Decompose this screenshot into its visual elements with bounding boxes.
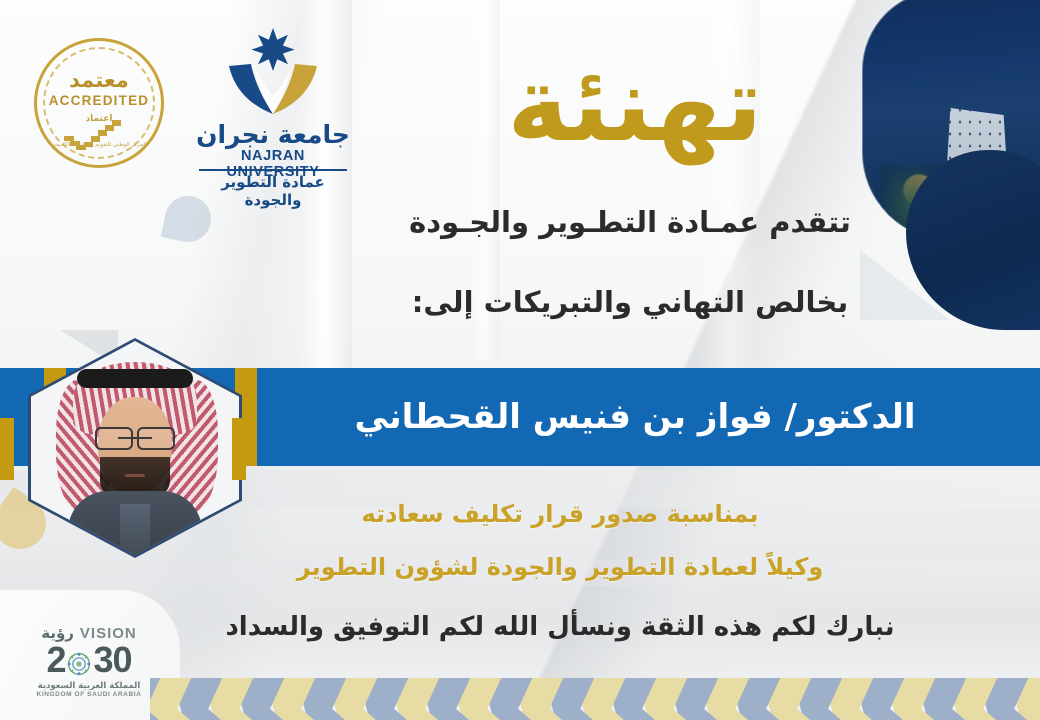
chevron-cell	[761, 678, 792, 720]
chevron-cell	[606, 678, 637, 720]
occasion-line-1: بمناسبة صدور قرار تكليف سعادته	[180, 500, 940, 528]
chevron-cell	[885, 678, 916, 720]
portrait-gold-bar-right	[232, 418, 246, 480]
portrait-gold-bar-left	[0, 418, 14, 480]
seal-english-label: ACCREDITED	[34, 93, 164, 108]
najran-university-logo: جامعة نجران NAJRAN UNIVERSITY عمادة التط…	[193, 28, 353, 168]
vision-2030-logo: VISION رؤية 2	[24, 624, 154, 698]
chevron-cell	[358, 678, 389, 720]
chevron-cell	[637, 678, 668, 720]
vision-kingdom-arabic: المملكة العربية السعودية	[24, 681, 154, 691]
vision-year-right: 30	[93, 642, 131, 678]
chevron-cell	[172, 678, 203, 720]
chevron-cell	[482, 678, 513, 720]
vision-kingdom-english: KINGDOM OF SAUDI ARABIA	[24, 691, 154, 698]
chevron-cell	[513, 678, 544, 720]
accreditation-seal: معتمد ACCREDITED اعتماد المركز الوطني لل…	[34, 38, 164, 168]
occasion-line-2: وكيلاً لعمادة التطوير والجودة لشؤون التط…	[180, 553, 940, 581]
chevron-cell	[947, 678, 978, 720]
chevron-cell	[389, 678, 420, 720]
chevron-cell	[916, 678, 947, 720]
headline-text: تهنئة	[505, 34, 765, 174]
book-emblem-icon	[225, 62, 321, 118]
saudi-emblem-icon	[66, 647, 92, 673]
chevron-cell	[1009, 678, 1040, 720]
chevron-cell	[203, 678, 234, 720]
intro-line-1: تتقدم عمـادة التطـوير والجـودة	[330, 205, 930, 239]
logo-deanship-label: عمادة التطوير والجودة	[193, 173, 353, 209]
chevron-cell	[150, 678, 172, 720]
chevron-cell	[978, 678, 1009, 720]
honoree-name: الدكتور/ فواز بن فنيس القحطاني	[270, 368, 1000, 466]
vision-year-left: 2	[46, 642, 65, 678]
chevron-cell	[327, 678, 358, 720]
chevron-cell	[234, 678, 265, 720]
chevron-cell	[823, 678, 854, 720]
chevron-cell	[854, 678, 885, 720]
chevron-cell	[544, 678, 575, 720]
chevron-cell	[451, 678, 482, 720]
headline-calligraphy: تهنئة	[505, 34, 765, 174]
chevron-cell	[730, 678, 761, 720]
chevron-cell	[296, 678, 327, 720]
congratulation-poster: معتمد ACCREDITED اعتماد المركز الوطني لل…	[0, 0, 1040, 720]
chevron-cell	[420, 678, 451, 720]
seal-authority-detail: المركز الوطني للتقويم والاعتماد الأكاديم…	[34, 142, 164, 149]
logo-name-arabic: جامعة نجران	[193, 120, 353, 149]
seal-arabic-label: معتمد	[34, 68, 164, 92]
chevron-cell	[668, 678, 699, 720]
intro-line-2: بخالص التهاني والتبريكات إلى:	[330, 285, 930, 319]
campus-photo-decoration	[850, 0, 1040, 300]
chevron-cell	[792, 678, 823, 720]
chevron-border	[150, 678, 1040, 720]
chevron-cell	[265, 678, 296, 720]
chevron-cell	[699, 678, 730, 720]
logo-divider	[199, 169, 347, 171]
closing-line: نبارك لكم هذه الثقة ونسأل الله لكم التوف…	[180, 612, 940, 642]
chevron-cell	[575, 678, 606, 720]
